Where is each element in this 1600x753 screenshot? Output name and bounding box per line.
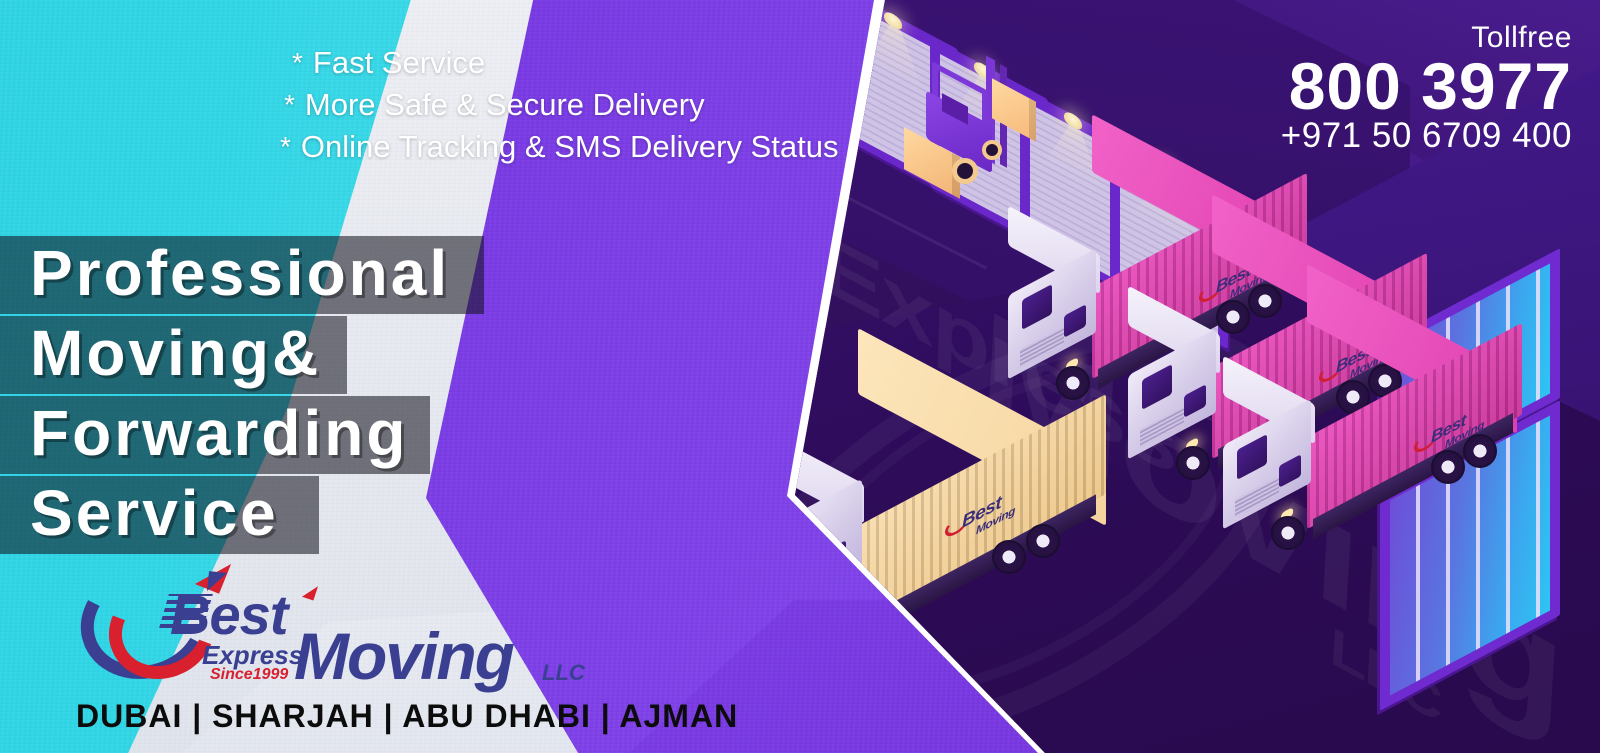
truck-wheel-front [1271,516,1305,550]
truck-wheel-rear [1431,450,1465,484]
truck-wheel-rear [1216,300,1250,334]
promotional-banner: Express Moving LLC [0,0,1600,753]
truck-wheel-rear [1463,434,1497,468]
truck-wheel-front [1056,366,1090,400]
logo-dart-accent-icon [302,583,318,601]
truck-wheel-front [1176,446,1210,480]
bullet-label: More Safe & Secure Delivery [305,86,705,124]
logo-since-label: Since1999 [210,666,288,684]
truck-wheel-rear [1248,284,1282,318]
logo-suffix: LLC [542,660,585,686]
logo-brand-secondary: Moving [294,618,513,694]
forklift-cargo-box-upper [992,78,1036,141]
headline-line-1: Professional [0,236,484,314]
headline-line-3: Forwarding [0,396,430,474]
forklift-wheel [952,158,978,184]
mobile-number[interactable]: +971 50 6709 400 [1281,117,1572,156]
forklift-wheel [982,140,1002,160]
logo-brand-primary: Best [170,582,287,647]
feature-bullet-list: * Fast Service * More Safe & Secure Deli… [292,44,838,169]
tollfree-number[interactable]: 800 3977 [1281,52,1572,121]
truck-wheel-rear [992,540,1026,574]
headline-line-4: Service [0,476,319,554]
bullet-item-3: * Online Tracking & SMS Delivery Status [280,128,838,166]
contact-block: Tollfree 800 3977 +971 50 6709 400 [1281,22,1572,155]
service-cities: DUBAI | SHARJAH | ABU DHABI | AJMAN [76,698,738,735]
bullet-item-1: * Fast Service [292,44,838,82]
company-logo[interactable]: Best Express Since1999 Moving LLC [72,556,542,696]
asterisk-icon: * [280,128,291,166]
bullet-label: Fast Service [313,44,485,82]
page-title: Professional Moving& Forwarding Service [0,236,484,556]
asterisk-icon: * [292,44,303,82]
truck-wheel-rear [1026,524,1060,558]
forklift-vehicle [908,58,1058,208]
headline-line-2: Moving& [0,316,347,394]
bullet-label: Online Tracking & SMS Delivery Status [301,128,839,166]
asterisk-icon: * [284,86,295,124]
bullet-item-2: * More Safe & Secure Delivery [284,86,838,124]
